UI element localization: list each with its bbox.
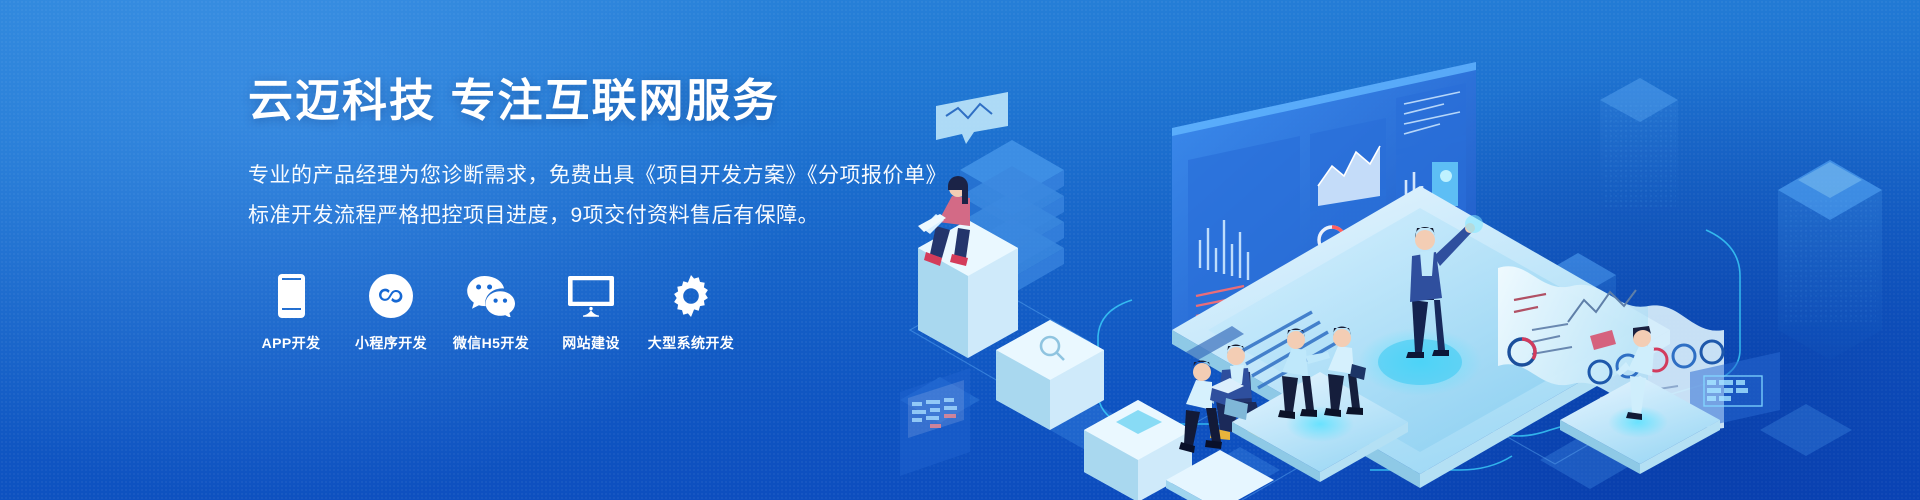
monitor-icon — [568, 273, 614, 319]
service-item-wechat-h5[interactable]: 微信H5开发 — [448, 273, 534, 353]
gear-icon — [670, 273, 712, 319]
service-item-website[interactable]: 网站建设 — [548, 273, 634, 353]
service-item-miniprogram[interactable]: 小程序开发 — [348, 273, 434, 353]
wechat-miniprogram-icon — [369, 273, 413, 319]
hero-copy: 云迈科技 专注互联网服务 专业的产品经理为您诊断需求，免费出具《项目开发方案》《… — [248, 74, 947, 353]
hero-subtitle: 专业的产品经理为您诊断需求，免费出具《项目开发方案》《分项报价单》 标准开发流程… — [248, 156, 947, 237]
subtitle-line-1: 专业的产品经理为您诊断需求，免费出具《项目开发方案》《分项报价单》 — [248, 156, 947, 196]
service-item-app[interactable]: APP开发 — [248, 273, 334, 353]
service-label: 网站建设 — [562, 333, 620, 353]
service-label: APP开发 — [262, 333, 321, 353]
service-label: 小程序开发 — [355, 333, 427, 353]
wechat-icon — [466, 273, 516, 319]
page-title: 云迈科技 专注互联网服务 — [248, 74, 947, 127]
isometric-illustration — [900, 0, 1920, 500]
mobile-phone-icon — [278, 273, 305, 319]
hero-banner: 云迈科技 专注互联网服务 专业的产品经理为您诊断需求，免费出具《项目开发方案》《… — [0, 0, 1920, 500]
service-label: 微信H5开发 — [453, 333, 529, 353]
subtitle-line-2: 标准开发流程严格把控项目进度，9项交付资料售后有保障。 — [248, 196, 947, 236]
service-item-large-system[interactable]: 大型系统开发 — [648, 273, 734, 353]
service-label: 大型系统开发 — [648, 333, 734, 353]
service-list: APP开发 小程序开发 — [248, 273, 947, 353]
